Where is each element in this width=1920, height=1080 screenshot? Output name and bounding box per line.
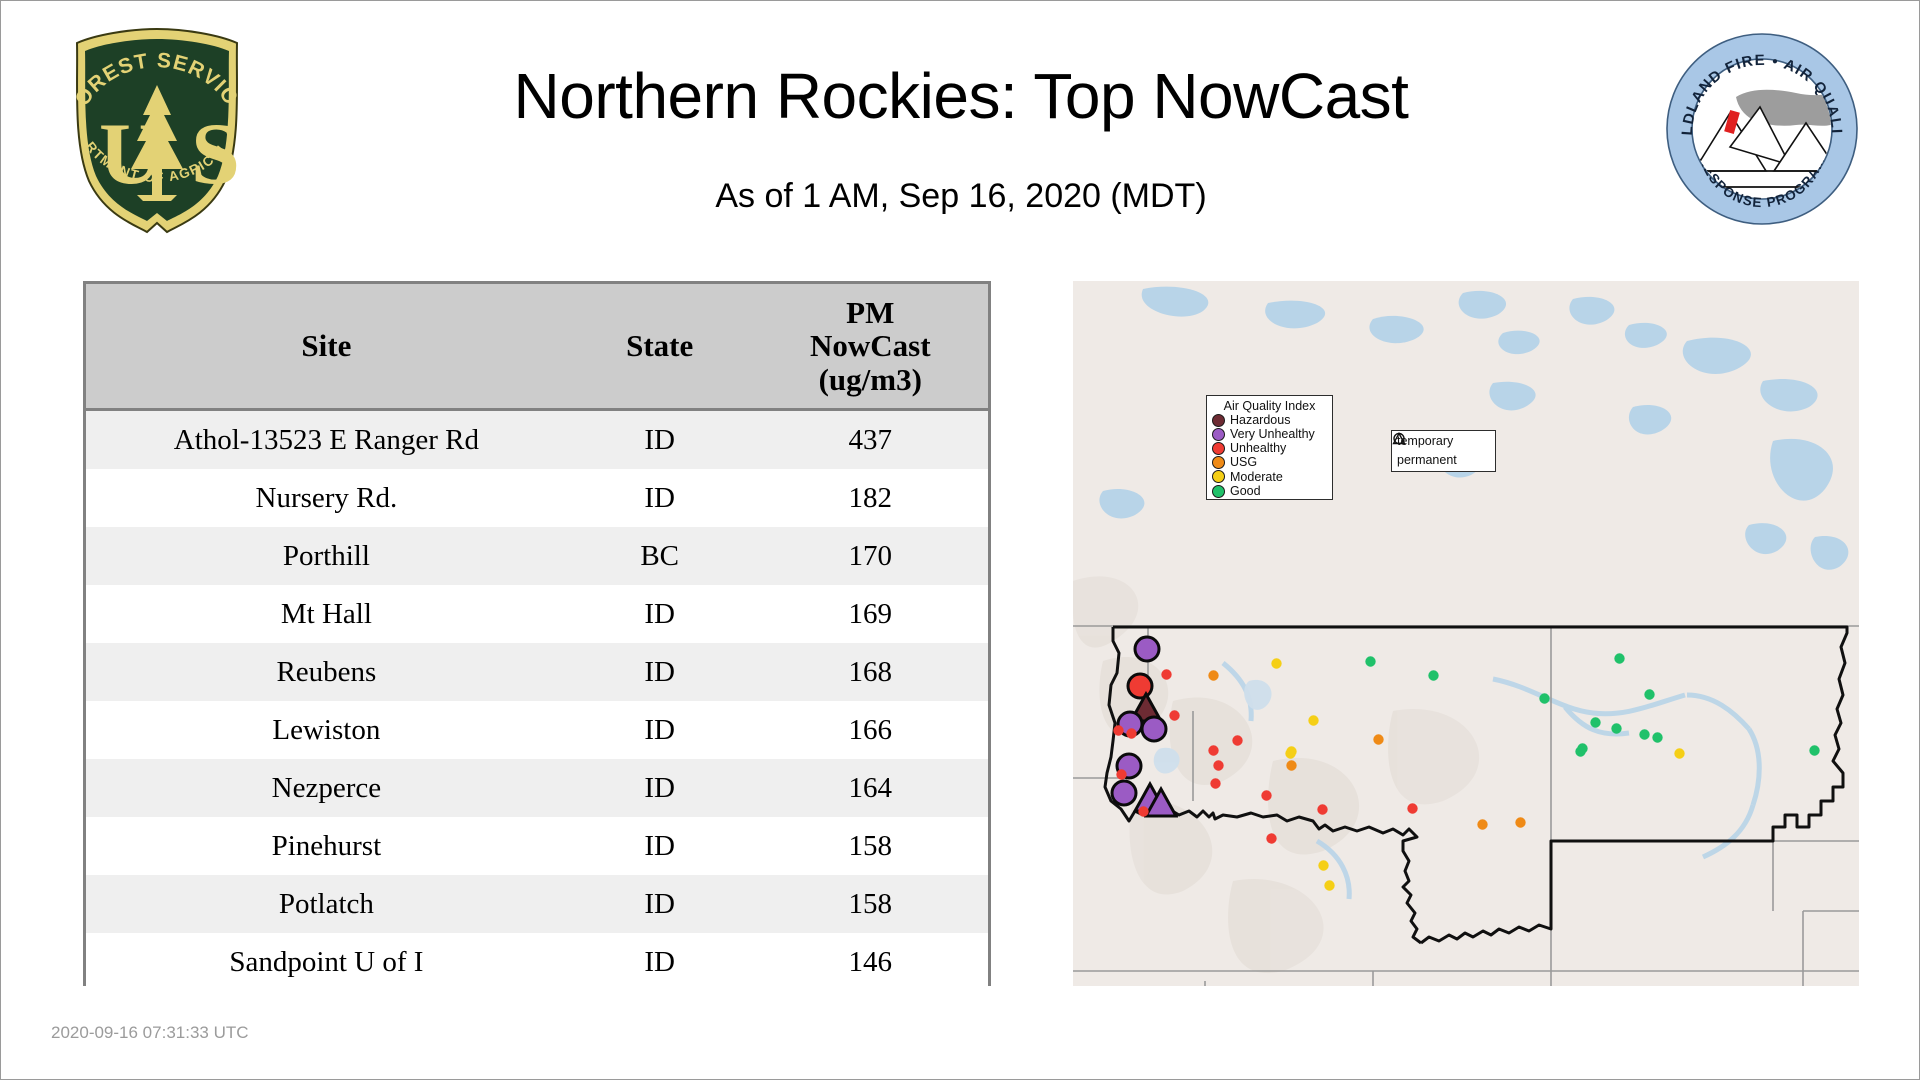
cell-site: Reubens [86,643,567,701]
legend-row-very-unhealthy: Very Unhealthy [1207,427,1332,441]
cell-state: ID [567,817,753,875]
cell-state: ID [567,410,753,470]
cell-site: Nursery Rd. [86,469,567,527]
legend-items: HazardousVery UnhealthyUnhealthyUSGModer… [1207,413,1332,498]
cell-site: Athol-13523 E Ranger Rd [86,410,567,470]
legend-row-unhealthy: Unhealthy [1207,441,1332,455]
cell-site: Mt Hall [86,585,567,643]
top-nowcast-table: Site State PM NowCast (ug/m3) Athol-1352… [83,281,991,986]
aqi-monitor-map[interactable]: Air Quality Index HazardousVery Unhealth… [1073,281,1859,986]
table-row: Sandpoint U of IID146 [86,933,988,991]
legend-row-temporary: temporary [1392,431,1495,450]
forest-service-logo: FOREST SERVICE DEPARTMENT OF AGRICULTURE… [51,23,263,238]
cell-state: ID [567,469,753,527]
cell-site: Pinehurst [86,817,567,875]
table-row: PotlatchID158 [86,875,988,933]
footer-timestamp: 2020-09-16 07:31:33 UTC [51,1023,249,1043]
triangle-icon [1392,431,1406,446]
logo-letter-s: S [191,106,240,203]
legend-row-moderate: Moderate [1207,470,1332,484]
legend-row-good: Good [1207,484,1332,498]
map-basemap [1073,281,1859,986]
cell-site: Sandpoint U of I [86,933,567,991]
cell-pm-nowcast: 158 [753,817,988,875]
cell-pm-nowcast: 168 [753,643,988,701]
wildland-fire-air-quality-logo: WILDLAND FIRE • AIR QUALITY RESPONSE PRO… [1664,31,1860,227]
cell-pm-nowcast: 158 [753,875,988,933]
cell-pm-nowcast: 146 [753,933,988,991]
table-row: LewistonID166 [86,701,988,759]
legend-label: USG [1230,456,1257,469]
table-row: NezperceID164 [86,759,988,817]
column-header-pm-nowcast: PM NowCast (ug/m3) [753,284,988,410]
legend-label: Unhealthy [1230,442,1286,455]
cell-pm-nowcast: 170 [753,527,988,585]
legend-label: Very Unhealthy [1230,428,1315,441]
cell-pm-nowcast: 437 [753,410,988,470]
cell-state: ID [567,585,753,643]
legend-row-usg: USG [1207,456,1332,470]
legend-swatch-icon [1212,414,1225,427]
table-row: Mt HallID169 [86,585,988,643]
column-header-site: Site [86,284,567,410]
legend-label-permanent: permanent [1397,453,1457,467]
legend-swatch-icon [1212,456,1225,469]
table-header-row: Site State PM NowCast (ug/m3) [86,284,988,410]
table-body: Athol-13523 E Ranger RdID437Nursery Rd.I… [86,410,988,992]
cell-state: ID [567,643,753,701]
legend-label: Good [1230,485,1261,498]
legend-label: Moderate [1230,471,1283,484]
legend-row-permanent: permanent [1392,450,1495,469]
cell-pm-nowcast: 182 [753,469,988,527]
table-row: PorthillBC170 [86,527,988,585]
legend-site-type: temporary permanent [1391,430,1496,472]
legend-swatch-icon [1212,470,1225,483]
table-row: ReubensID168 [86,643,988,701]
cell-state: ID [567,875,753,933]
legend-label: Hazardous [1230,414,1290,427]
legend-swatch-icon [1212,485,1225,498]
cell-site: Potlatch [86,875,567,933]
nowcast-report-page: FOREST SERVICE DEPARTMENT OF AGRICULTURE… [0,0,1920,1080]
table-row: Athol-13523 E Ranger RdID437 [86,410,988,470]
page-subtitle: As of 1 AM, Sep 16, 2020 (MDT) [301,177,1621,216]
cell-state: ID [567,759,753,817]
table-row: Nursery Rd.ID182 [86,469,988,527]
table-row: PinehurstID158 [86,817,988,875]
column-header-state: State [567,284,753,410]
cell-site: Porthill [86,527,567,585]
cell-state: BC [567,527,753,585]
cell-pm-nowcast: 164 [753,759,988,817]
cell-site: Lewiston [86,701,567,759]
legend-row-hazardous: Hazardous [1207,413,1332,427]
legend-swatch-icon [1212,428,1225,441]
cell-state: ID [567,933,753,991]
legend-title: Air Quality Index [1207,399,1332,413]
cell-pm-nowcast: 166 [753,701,988,759]
legend-swatch-icon [1212,442,1225,455]
page-title: Northern Rockies: Top NowCast [301,59,1621,133]
legend-air-quality-index: Air Quality Index HazardousVery Unhealth… [1206,395,1333,500]
cell-state: ID [567,701,753,759]
cell-site: Nezperce [86,759,567,817]
cell-pm-nowcast: 169 [753,585,988,643]
